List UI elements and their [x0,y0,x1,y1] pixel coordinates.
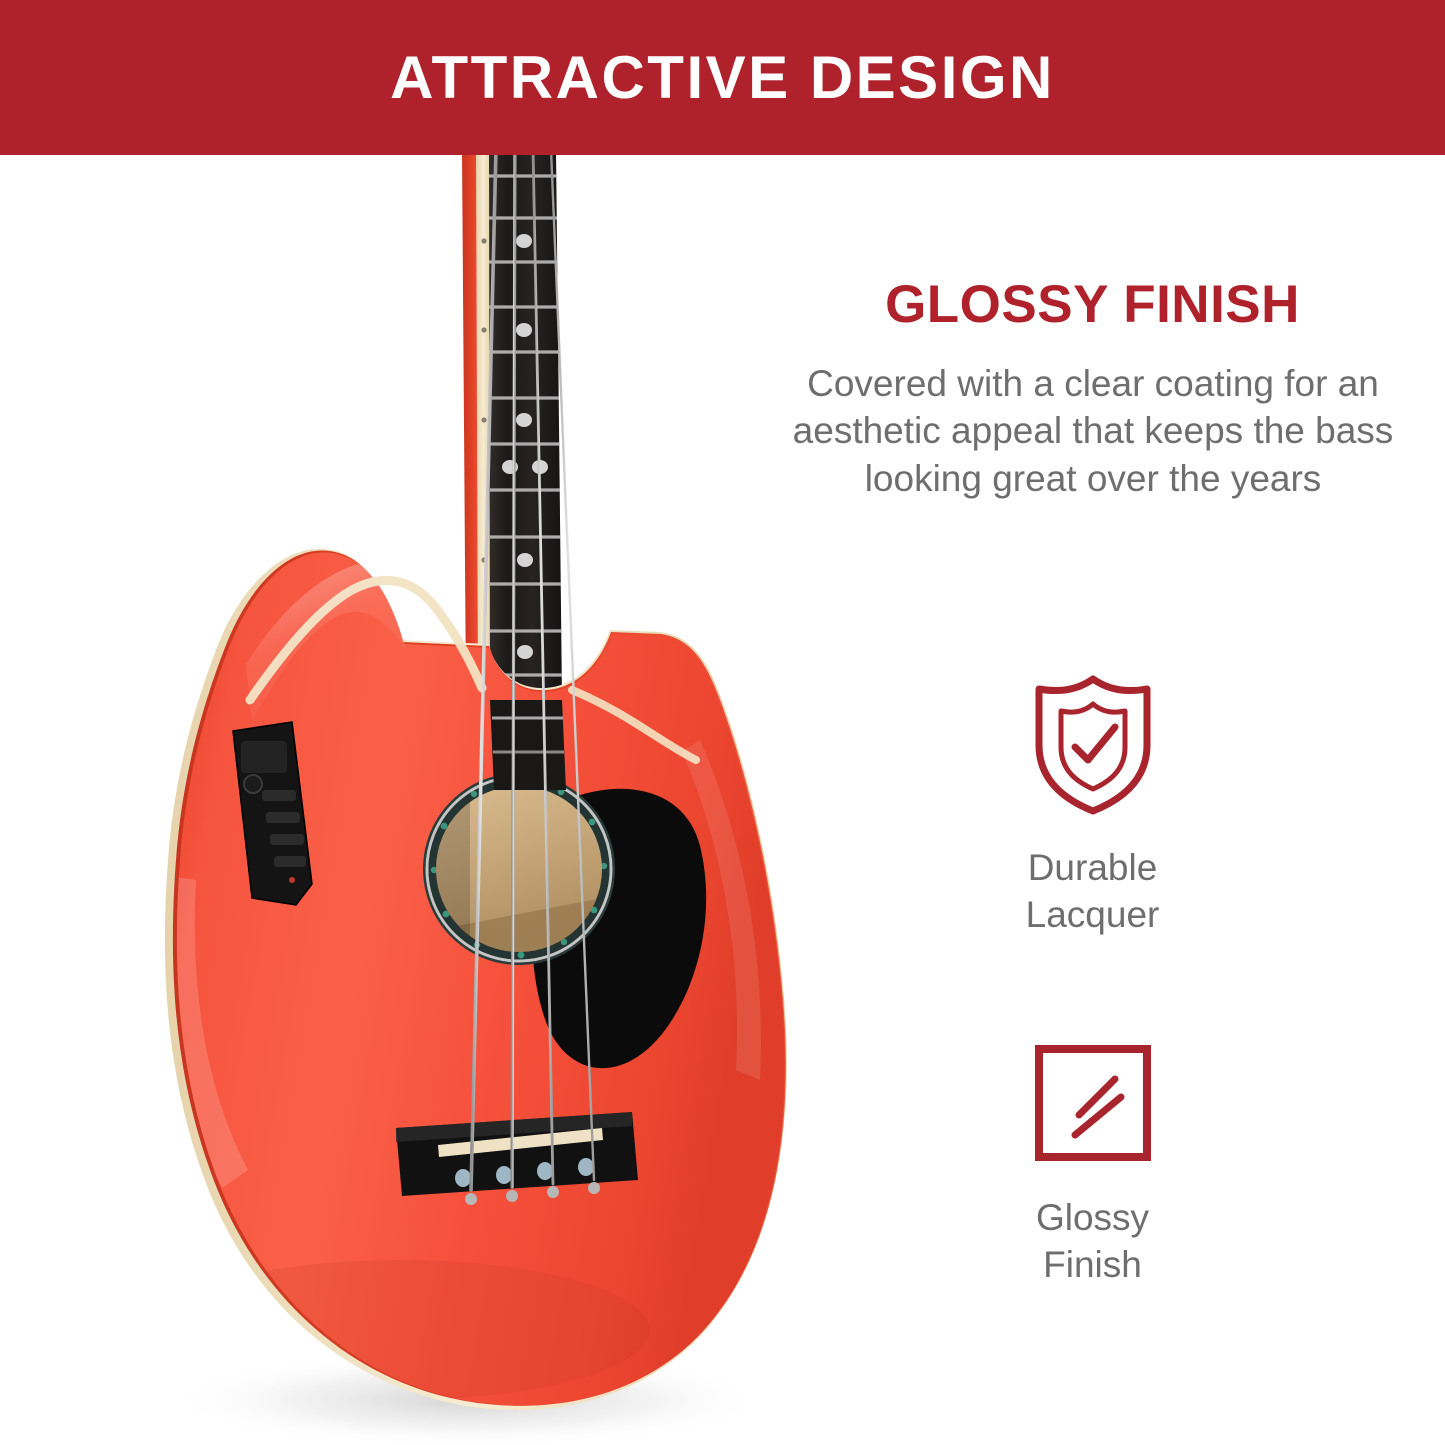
bass-guitar-illustration [0,0,840,1445]
product-photo [0,0,840,1445]
shield-check-icon [1027,667,1159,819]
fretboard-extension [490,700,566,790]
benefit-label: Durable Lacquer [1026,845,1160,939]
benefit-label: Glossy Finish [1036,1195,1149,1289]
soundhole-assembly [423,773,615,965]
feature-description: Covered with a clear coating for an aest… [768,360,1418,502]
benefit-durable-lacquer: Durable Lacquer [740,667,1445,939]
preamp-led [289,877,295,883]
preamp-knob [244,775,262,793]
preamp-display [241,741,287,773]
glossy-square-shine-icon [1027,1037,1159,1169]
attractive-design-banner: ATTRACTIVE DESIGN [0,0,1445,155]
banner-title: ATTRACTIVE DESIGN [390,48,1055,108]
benefit-glossy-finish: Glossy Finish [740,1037,1445,1289]
guitar-neck [462,150,562,700]
feature-info-panel: GLOSSY FINISH Covered with a clear coati… [740,155,1445,1445]
feature-heading: GLOSSY FINISH [740,277,1445,333]
